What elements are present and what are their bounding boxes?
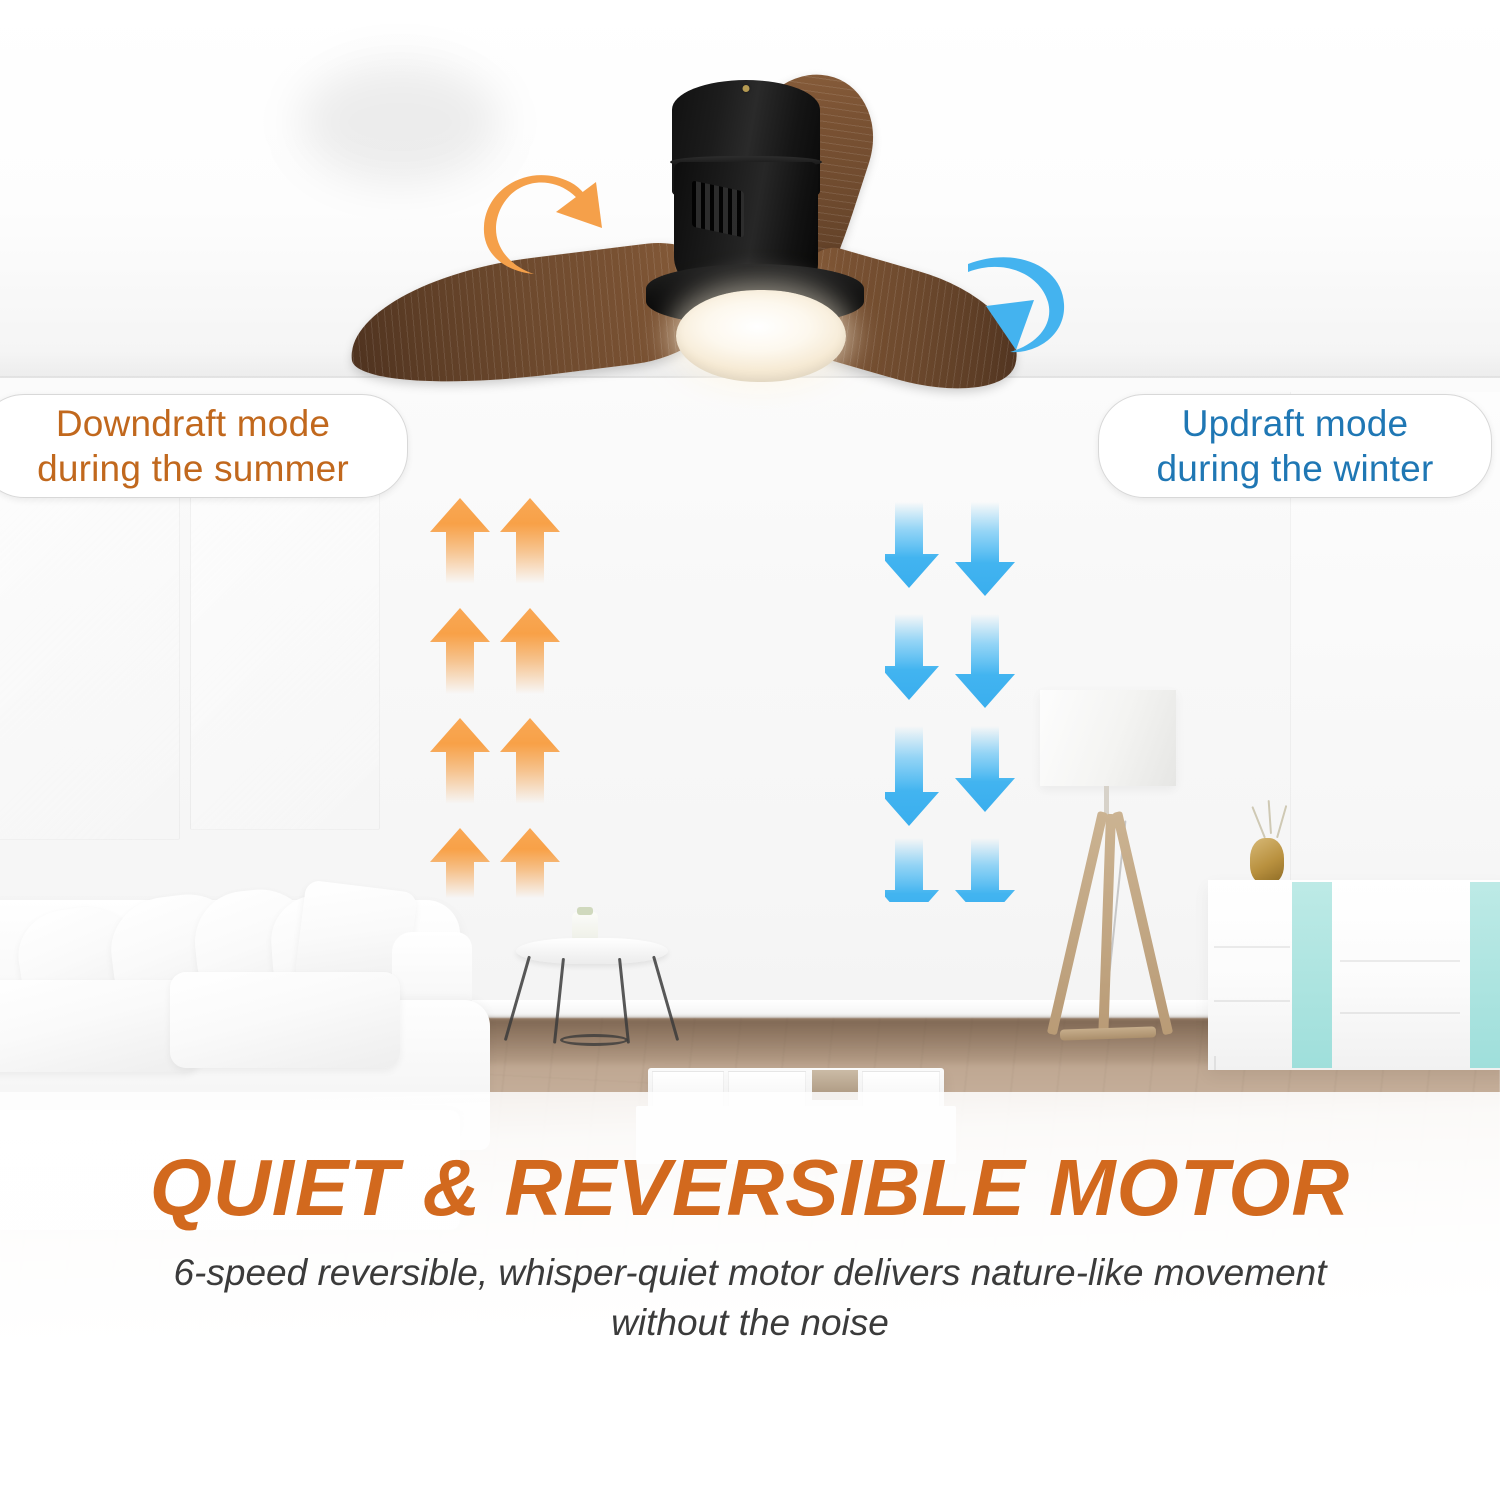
sideboard-drawer-line bbox=[1214, 1000, 1290, 1002]
product-infographic: Downdraft mode during the summer Updraft… bbox=[0, 0, 1500, 1500]
side-table-top bbox=[516, 938, 668, 964]
sideboard-legs bbox=[1214, 1056, 1500, 1070]
sideboard-drawer-line bbox=[1340, 960, 1460, 962]
arrow-down bbox=[885, 838, 1015, 902]
lamp-shade bbox=[1040, 690, 1176, 786]
arrow-up bbox=[430, 718, 560, 804]
subheadline-line1: 6-speed reversible, whisper-quiet motor … bbox=[173, 1252, 1143, 1293]
sideboard-accent-panel bbox=[1470, 882, 1500, 1068]
callout-left-line2: during the summer bbox=[37, 448, 349, 489]
fan-led-light bbox=[676, 290, 846, 382]
arrow-up bbox=[430, 498, 560, 584]
sofa-seat-cushion bbox=[170, 972, 400, 1068]
ceiling-fan bbox=[340, 58, 1020, 398]
callout-right-line2: during the winter bbox=[1157, 448, 1434, 489]
sideboard-drawer-line bbox=[1340, 1012, 1460, 1014]
sideboard-drawer-line bbox=[1214, 946, 1290, 948]
arrow-down bbox=[885, 502, 1015, 596]
side-table-base bbox=[560, 1034, 628, 1046]
arrow-down bbox=[885, 614, 1015, 708]
sideboard-accent-panel bbox=[1292, 882, 1332, 1068]
arrow-down bbox=[885, 726, 1015, 826]
sideboard bbox=[1208, 880, 1500, 1070]
updraft-airflow-arrows bbox=[885, 502, 1055, 902]
updraft-rotation-arrow-icon bbox=[952, 248, 1082, 368]
downdraft-rotation-arrow-icon bbox=[478, 168, 608, 288]
arrow-up bbox=[430, 828, 560, 898]
callout-left-line1: Downdraft mode bbox=[56, 403, 330, 444]
decor-vase bbox=[1250, 838, 1284, 884]
downdraft-airflow-arrows bbox=[430, 498, 600, 898]
headline: QUIET & REVERSIBLE MOTOR bbox=[0, 1142, 1500, 1234]
callout-downdraft-summer: Downdraft mode during the summer bbox=[0, 394, 408, 498]
callout-updraft-winter: Updraft mode during the winter bbox=[1098, 394, 1492, 498]
subheadline: 6-speed reversible, whisper-quiet motor … bbox=[150, 1248, 1350, 1349]
arrow-up bbox=[430, 608, 560, 694]
callout-right-line1: Updraft mode bbox=[1182, 403, 1409, 444]
